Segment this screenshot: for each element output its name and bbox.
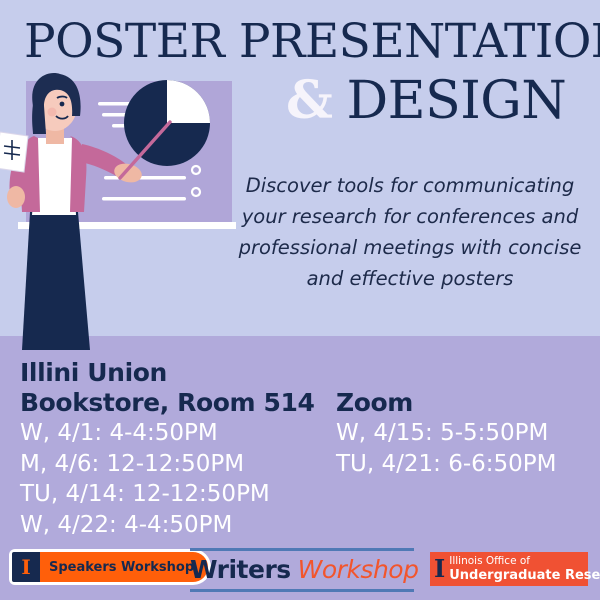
undergraduate-research-logo[interactable]: I Illinois Office of Undergraduate Resea… (430, 552, 588, 586)
poster-title-line-1: POSTER PRESENTATION (24, 16, 584, 68)
session-heading-line-1: Zoom (336, 388, 557, 418)
poster-canvas: POSTER PRESENTATION &DESIGN Discover too… (0, 0, 600, 600)
session-heading-line-1: Illini Union (20, 358, 314, 388)
session-block-zoom: Zoom W, 4/15: 5-5:50PM TU, 4/21: 6-6:50P… (336, 388, 557, 479)
undergraduate-research-text: Illinois Office of Undergraduate Researc… (449, 555, 600, 583)
poster-description: Discover tools for communicating your re… (226, 170, 594, 294)
presenter-eye (60, 102, 65, 107)
ampersand-glyph: & (286, 70, 332, 131)
session-time: TU, 4/14: 12-12:50PM (20, 479, 314, 510)
poster-title-line-2: &DESIGN (286, 72, 586, 130)
presenter-left-hand (7, 186, 25, 208)
presenter-cheek (48, 108, 57, 117)
writers-word: Writers (190, 555, 291, 584)
illinois-i-mark-icon: I (12, 552, 40, 582)
session-time: W, 4/22: 4-4:50PM (20, 510, 314, 541)
footer-logo-bar: I Speakers Workshop WritersWorkshop I Il… (0, 548, 600, 596)
design-word: DESIGN (346, 71, 566, 131)
writers-workshop-logo[interactable]: WritersWorkshop (190, 548, 414, 592)
illinois-i-glyph: I (21, 557, 30, 577)
presenter-skirt (22, 212, 90, 350)
session-time: TU, 4/21: 6-6:50PM (336, 449, 557, 480)
session-time: M, 4/6: 12-12:50PM (20, 449, 314, 480)
presenter-illustration (0, 60, 240, 350)
workshop-word: Workshop (298, 555, 419, 584)
session-block-illini-union: Illini Union Bookstore, Room 514 W, 4/1:… (20, 358, 314, 540)
undergraduate-research-line-1: Illinois Office of (449, 555, 600, 568)
board-line-4 (104, 176, 186, 180)
illinois-i-mark-icon: I (434, 557, 445, 581)
speakers-workshop-label: Speakers Workshop (40, 552, 208, 582)
session-time: W, 4/15: 5-5:50PM (336, 418, 557, 449)
undergraduate-research-line-2: Undergraduate Research (449, 568, 600, 583)
presenter-papers (0, 132, 28, 172)
speakers-workshop-logo[interactable]: I Speakers Workshop (12, 552, 208, 582)
session-time: W, 4/1: 4-4:50PM (20, 418, 314, 449)
board-line-5 (102, 197, 186, 201)
session-heading-line-2: Bookstore, Room 514 (20, 388, 314, 418)
